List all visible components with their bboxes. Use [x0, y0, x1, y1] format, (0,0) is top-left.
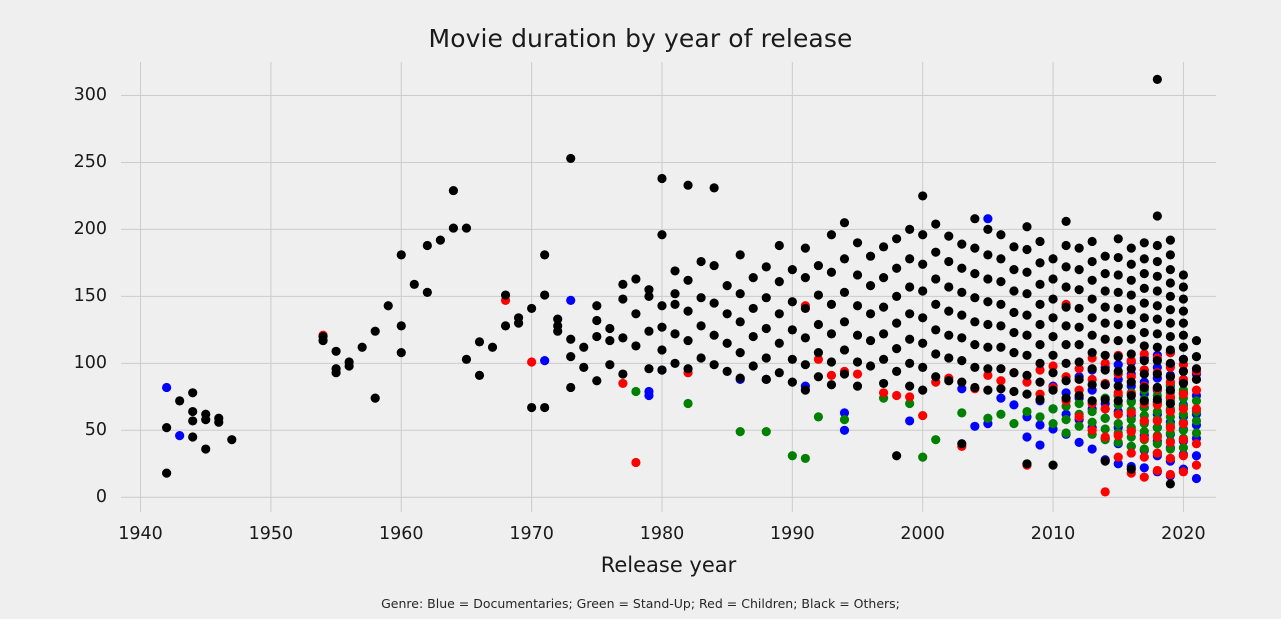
- data-point: [397, 250, 406, 259]
- data-point: [931, 219, 940, 228]
- data-point: [1127, 408, 1136, 417]
- data-point: [853, 369, 862, 378]
- data-point: [957, 408, 966, 417]
- data-point: [749, 361, 758, 370]
- data-point: [762, 324, 771, 333]
- data-point: [1192, 352, 1201, 361]
- data-point: [905, 392, 914, 401]
- data-point: [866, 252, 875, 261]
- data-point: [1048, 368, 1057, 377]
- data-point: [1179, 379, 1188, 388]
- data-point: [1101, 252, 1110, 261]
- data-point: [996, 394, 1005, 403]
- data-point: [683, 364, 692, 373]
- data-point: [879, 379, 888, 388]
- data-point: [618, 280, 627, 289]
- data-point: [1101, 335, 1110, 344]
- data-point: [918, 339, 927, 348]
- data-point: [1035, 320, 1044, 329]
- data-point: [1140, 238, 1149, 247]
- data-point: [1101, 395, 1110, 404]
- data-point: [879, 242, 888, 251]
- data-point: [1192, 336, 1201, 345]
- data-point: [1166, 470, 1175, 479]
- data-point: [1179, 270, 1188, 279]
- data-point: [1009, 308, 1018, 317]
- data-point: [957, 240, 966, 249]
- data-point: [1140, 383, 1149, 392]
- data-point: [1088, 331, 1097, 340]
- data-point: [840, 426, 849, 435]
- data-point: [1127, 377, 1136, 386]
- data-point: [944, 307, 953, 316]
- data-point: [1088, 380, 1097, 389]
- gridlines: [121, 62, 1216, 512]
- data-point: [1192, 461, 1201, 470]
- data-point: [188, 416, 197, 425]
- data-point: [475, 371, 484, 380]
- data-point: [1153, 315, 1162, 324]
- data-point: [670, 266, 679, 275]
- x-tick-label: 2020: [1143, 524, 1223, 544]
- genre-legend-caption: Genre: Blue = Documentaries; Green = Sta…: [0, 596, 1281, 611]
- data-point: [1035, 280, 1044, 289]
- data-point: [1114, 336, 1123, 345]
- data-point: [605, 336, 614, 345]
- data-point: [527, 403, 536, 412]
- data-point: [892, 264, 901, 273]
- data-point: [736, 317, 745, 326]
- data-point: [345, 357, 354, 366]
- data-point: [710, 261, 719, 270]
- y-tick-label: 0: [37, 487, 107, 507]
- data-point: [788, 451, 797, 460]
- data-point: [540, 290, 549, 299]
- data-point: [866, 361, 875, 370]
- data-point: [1192, 404, 1201, 413]
- data-point: [827, 329, 836, 338]
- data-point: [605, 324, 614, 333]
- data-point: [1114, 234, 1123, 243]
- data-point: [736, 427, 745, 436]
- data-point: [670, 289, 679, 298]
- data-point: [840, 317, 849, 326]
- data-point: [1114, 270, 1123, 279]
- series-others: [162, 75, 1201, 489]
- data-point: [1153, 329, 1162, 338]
- data-point: [1179, 331, 1188, 340]
- data-point: [1009, 242, 1018, 251]
- data-point: [644, 391, 653, 400]
- data-point: [1088, 237, 1097, 246]
- data-point: [1075, 244, 1084, 253]
- data-point: [1153, 286, 1162, 295]
- data-point: [1061, 302, 1070, 311]
- data-point: [879, 388, 888, 397]
- y-tick-label: 250: [37, 152, 107, 172]
- data-point: [618, 379, 627, 388]
- data-point: [592, 301, 601, 310]
- data-point: [1061, 376, 1070, 385]
- data-point: [1048, 294, 1057, 303]
- data-point: [788, 297, 797, 306]
- data-point: [1061, 217, 1070, 226]
- data-point: [749, 273, 758, 282]
- data-point: [827, 357, 836, 366]
- data-point: [683, 307, 692, 316]
- data-point: [1075, 391, 1084, 400]
- data-point: [1022, 289, 1031, 298]
- data-point: [201, 415, 210, 424]
- data-point: [1061, 428, 1070, 437]
- data-point: [866, 336, 875, 345]
- data-point: [1101, 424, 1110, 433]
- data-point: [1153, 343, 1162, 352]
- data-point: [1192, 451, 1201, 460]
- data-point: [970, 422, 979, 431]
- data-point: [1101, 380, 1110, 389]
- data-point: [736, 373, 745, 382]
- data-point: [1022, 222, 1031, 231]
- data-point: [1166, 332, 1175, 341]
- data-point: [1061, 321, 1070, 330]
- data-point: [1140, 473, 1149, 482]
- y-tick-label: 100: [37, 353, 107, 373]
- data-point: [1075, 340, 1084, 349]
- data-point: [749, 304, 758, 313]
- data-point: [579, 363, 588, 372]
- data-point: [736, 250, 745, 259]
- data-point: [1035, 237, 1044, 246]
- data-point: [1166, 278, 1175, 287]
- data-point: [1153, 432, 1162, 441]
- data-point: [1179, 307, 1188, 316]
- data-point: [175, 396, 184, 405]
- data-point: [775, 241, 784, 250]
- data-point: [931, 325, 940, 334]
- data-point: [788, 355, 797, 364]
- data-point: [1166, 319, 1175, 328]
- data-point: [1140, 369, 1149, 378]
- data-point: [1061, 359, 1070, 368]
- data-point: [331, 347, 340, 356]
- data-point: [1127, 364, 1136, 373]
- data-point: [879, 273, 888, 282]
- data-point: [996, 277, 1005, 286]
- data-point: [892, 367, 901, 376]
- data-point: [696, 321, 705, 330]
- data-point: [1035, 420, 1044, 429]
- y-tick-label: 200: [37, 219, 107, 239]
- data-point: [1114, 382, 1123, 391]
- data-point: [1114, 304, 1123, 313]
- data-point: [1075, 357, 1084, 366]
- data-point: [1088, 276, 1097, 285]
- data-point: [879, 329, 888, 338]
- data-point: [970, 269, 979, 278]
- data-point: [1192, 364, 1201, 373]
- data-point: [1127, 276, 1136, 285]
- data-point: [1088, 426, 1097, 435]
- data-point: [1114, 419, 1123, 428]
- data-point: [1114, 288, 1123, 297]
- data-point: [1035, 377, 1044, 386]
- data-point: [462, 223, 471, 232]
- series-documentaries: [162, 214, 1201, 483]
- data-point: [397, 348, 406, 357]
- data-point: [996, 254, 1005, 263]
- data-point: [1101, 319, 1110, 328]
- data-point: [801, 360, 810, 369]
- data-point: [670, 359, 679, 368]
- data-point: [1022, 459, 1031, 468]
- data-point: [1140, 434, 1149, 443]
- data-point: [1140, 254, 1149, 263]
- data-point: [1088, 396, 1097, 405]
- data-point: [1075, 323, 1084, 332]
- data-point: [892, 234, 901, 243]
- data-point: [1009, 368, 1018, 377]
- data-point: [879, 355, 888, 364]
- data-point: [1127, 391, 1136, 400]
- data-point: [853, 331, 862, 340]
- data-point: [501, 290, 510, 299]
- data-point: [592, 332, 601, 341]
- data-point: [1179, 404, 1188, 413]
- data-point: [931, 274, 940, 283]
- data-point: [710, 331, 719, 340]
- data-point: [1114, 396, 1123, 405]
- data-point: [1022, 407, 1031, 416]
- data-point: [970, 214, 979, 223]
- data-point: [592, 376, 601, 385]
- data-point: [710, 360, 719, 369]
- data-point: [905, 382, 914, 391]
- data-point: [723, 339, 732, 348]
- data-point: [1009, 419, 1018, 428]
- data-point: [1153, 241, 1162, 250]
- data-point: [840, 415, 849, 424]
- data-point: [331, 364, 340, 373]
- data-point: [957, 288, 966, 297]
- data-point: [175, 431, 184, 440]
- data-point: [788, 265, 797, 274]
- data-point: [892, 292, 901, 301]
- data-point: [944, 331, 953, 340]
- data-point: [657, 301, 666, 310]
- data-point: [1179, 282, 1188, 291]
- data-point: [475, 337, 484, 346]
- x-tick-label: 2000: [883, 524, 963, 544]
- figure-canvas: Movie duration by year of release Durati…: [0, 0, 1281, 619]
- data-point: [905, 282, 914, 291]
- data-point: [540, 403, 549, 412]
- data-point: [1179, 390, 1188, 399]
- data-point: [866, 281, 875, 290]
- data-point: [1009, 265, 1018, 274]
- data-point: [996, 364, 1005, 373]
- data-point: [1022, 311, 1031, 320]
- data-point: [1153, 356, 1162, 365]
- data-point: [1009, 286, 1018, 295]
- data-point: [436, 236, 445, 245]
- data-point: [814, 320, 823, 329]
- data-point: [371, 394, 380, 403]
- data-point: [957, 377, 966, 386]
- data-point: [905, 359, 914, 368]
- data-point: [1127, 290, 1136, 299]
- data-point: [1035, 300, 1044, 309]
- data-point: [1179, 355, 1188, 364]
- data-point: [683, 181, 692, 190]
- data-point: [944, 232, 953, 241]
- data-point: [162, 423, 171, 432]
- data-point: [683, 336, 692, 345]
- data-point: [957, 311, 966, 320]
- data-point: [918, 191, 927, 200]
- data-point: [449, 186, 458, 195]
- data-point: [1166, 386, 1175, 395]
- data-point: [1009, 400, 1018, 409]
- data-point: [1022, 390, 1031, 399]
- data-point: [1075, 285, 1084, 294]
- data-point: [918, 452, 927, 461]
- data-point: [1101, 365, 1110, 374]
- data-point: [905, 309, 914, 318]
- data-point: [1127, 320, 1136, 329]
- data-point: [801, 304, 810, 313]
- data-point: [1153, 448, 1162, 457]
- data-point: [1088, 294, 1097, 303]
- data-point: [423, 288, 432, 297]
- x-tick-label: 1980: [622, 524, 702, 544]
- data-point: [983, 214, 992, 223]
- data-point: [540, 356, 549, 365]
- data-point: [1022, 371, 1031, 380]
- data-point: [710, 298, 719, 307]
- data-point: [996, 384, 1005, 393]
- data-point: [566, 154, 575, 163]
- data-point: [566, 296, 575, 305]
- data-point: [827, 371, 836, 380]
- data-point: [657, 345, 666, 354]
- data-point: [1114, 410, 1123, 419]
- data-point: [983, 320, 992, 329]
- data-point: [762, 375, 771, 384]
- data-point: [227, 435, 236, 444]
- data-point: [1192, 439, 1201, 448]
- data-point: [1192, 428, 1201, 437]
- data-point: [696, 293, 705, 302]
- data-point: [1101, 404, 1110, 413]
- x-tick-label: 1950: [231, 524, 311, 544]
- data-point: [1153, 211, 1162, 220]
- data-point: [931, 349, 940, 358]
- data-point: [631, 458, 640, 467]
- data-point: [201, 444, 210, 453]
- data-point: [1127, 427, 1136, 436]
- data-point: [1166, 305, 1175, 314]
- data-point: [1022, 331, 1031, 340]
- data-point: [657, 174, 666, 183]
- data-point: [801, 273, 810, 282]
- data-point: [944, 376, 953, 385]
- data-point: [918, 363, 927, 372]
- data-point: [1061, 415, 1070, 424]
- data-point: [1127, 244, 1136, 253]
- data-point: [1140, 444, 1149, 453]
- x-tick-label: 2010: [1013, 524, 1093, 544]
- data-point: [1022, 432, 1031, 441]
- data-point: [996, 410, 1005, 419]
- data-point: [1075, 375, 1084, 384]
- data-point: [801, 454, 810, 463]
- data-point: [983, 364, 992, 373]
- data-point: [1179, 319, 1188, 328]
- data-point: [905, 416, 914, 425]
- data-point: [1022, 351, 1031, 360]
- data-point: [1127, 305, 1136, 314]
- data-point: [1140, 269, 1149, 278]
- data-point: [1114, 367, 1123, 376]
- data-point: [827, 300, 836, 309]
- data-point: [1127, 448, 1136, 457]
- data-point: [605, 360, 614, 369]
- data-point: [1035, 340, 1044, 349]
- data-point: [670, 300, 679, 309]
- data-point: [957, 333, 966, 342]
- data-point: [931, 372, 940, 381]
- data-point: [1009, 387, 1018, 396]
- data-point: [1179, 294, 1188, 303]
- data-point: [840, 369, 849, 378]
- data-point: [944, 257, 953, 266]
- data-point: [970, 383, 979, 392]
- data-point: [970, 317, 979, 326]
- data-point: [1140, 328, 1149, 337]
- data-point: [775, 368, 784, 377]
- data-point: [801, 386, 810, 395]
- data-point: [358, 343, 367, 352]
- data-point: [775, 309, 784, 318]
- data-point: [983, 297, 992, 306]
- data-point: [1153, 257, 1162, 266]
- data-point: [892, 451, 901, 460]
- data-point: [683, 276, 692, 285]
- data-point: [1140, 452, 1149, 461]
- data-point: [749, 332, 758, 341]
- data-point: [983, 225, 992, 234]
- data-point: [762, 293, 771, 302]
- data-point: [1179, 343, 1188, 352]
- data-point: [1179, 367, 1188, 376]
- data-point: [853, 301, 862, 310]
- data-point: [1166, 479, 1175, 488]
- data-point: [1035, 412, 1044, 421]
- data-point: [1166, 265, 1175, 274]
- data-point: [801, 333, 810, 342]
- data-point: [696, 257, 705, 266]
- data-point: [592, 316, 601, 325]
- data-point: [1127, 465, 1136, 474]
- data-point: [1075, 438, 1084, 447]
- data-point: [996, 376, 1005, 385]
- data-point: [1088, 364, 1097, 373]
- data-point: [957, 356, 966, 365]
- data-point: [1179, 467, 1188, 476]
- data-point: [944, 282, 953, 291]
- data-point: [553, 315, 562, 324]
